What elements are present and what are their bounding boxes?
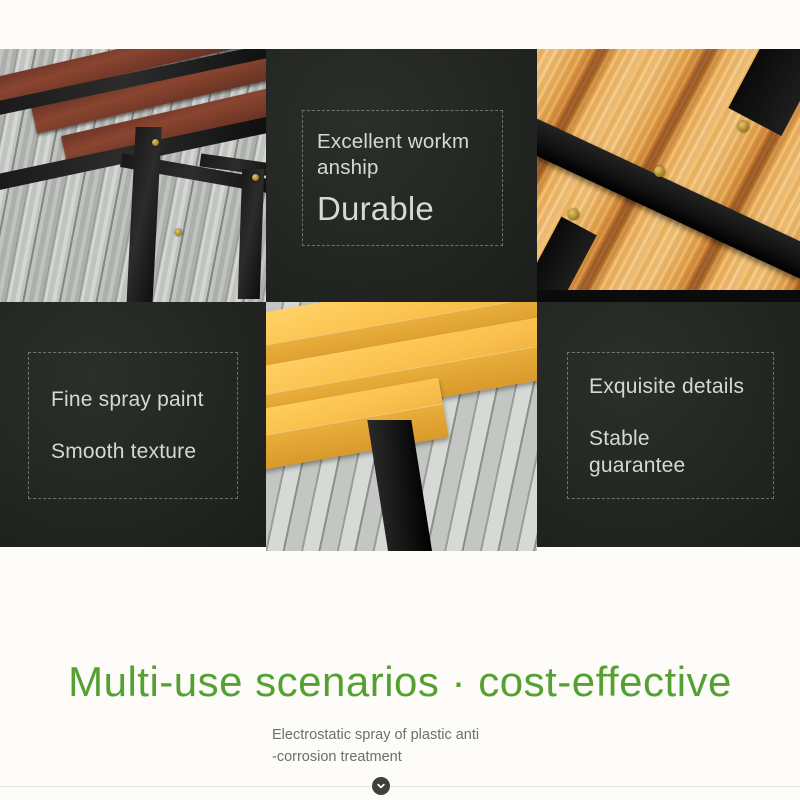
panel-spray-paint-line-2: Smooth texture — [51, 438, 215, 465]
footer-headline: Multi-use scenarios · cost-effective — [0, 656, 800, 708]
footer-divider — [0, 786, 800, 787]
photo-yellow-slat-ends[interactable] — [266, 302, 537, 551]
bolt-icon — [654, 166, 665, 177]
yellow-slats-photo-art — [266, 302, 537, 551]
bench-leg — [238, 169, 265, 299]
panel-workmanship-line-2: Durable — [317, 190, 488, 228]
panel-exquisite-details-box: Exquisite details Stable guarantee — [567, 352, 774, 499]
panel-exquisite-details-line-1: Exquisite details — [589, 373, 752, 400]
footer-subtitle: Electrostatic spray of plastic anti -cor… — [272, 724, 572, 768]
bolt-icon — [175, 229, 182, 236]
panel-exquisite-details[interactable]: Exquisite details Stable guarantee — [537, 302, 800, 547]
photo-dark-bench-on-deck[interactable] — [0, 49, 266, 302]
chevron-down-icon[interactable] — [372, 777, 390, 795]
feature-grid: Excellent workm anship Durable Fine spra… — [0, 49, 800, 547]
panel-workmanship[interactable]: Excellent workm anship Durable — [266, 49, 537, 302]
photo-bottom-edge — [537, 290, 800, 302]
panel-spray-paint[interactable]: Fine spray paint Smooth texture — [0, 302, 266, 547]
panel-workmanship-box: Excellent workm anship Durable — [302, 110, 503, 246]
bench-photo-art — [0, 49, 266, 302]
panel-exquisite-details-line-2: Stable guarantee — [589, 425, 752, 479]
bolt-icon — [152, 139, 159, 146]
amber-slats-photo-art — [537, 49, 800, 302]
photo-amber-slats-with-strap[interactable] — [537, 49, 800, 302]
bolt-icon — [568, 209, 579, 220]
panel-workmanship-line-1: Excellent workm anship — [317, 129, 488, 181]
bolt-icon — [738, 121, 749, 132]
bolt-icon — [252, 174, 259, 181]
panel-spray-paint-box: Fine spray paint Smooth texture — [28, 352, 238, 499]
panel-spray-paint-line-1: Fine spray paint — [51, 386, 215, 413]
